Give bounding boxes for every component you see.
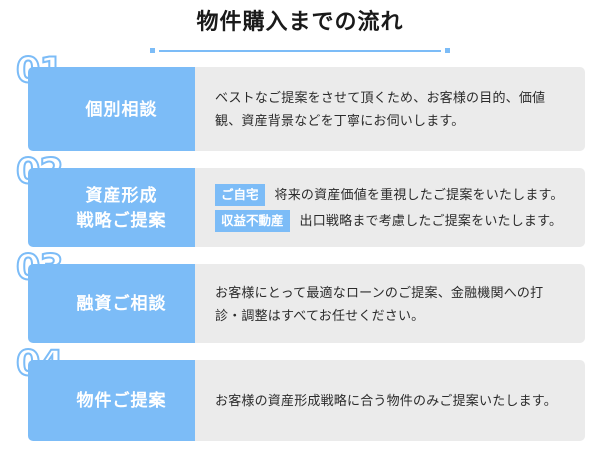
badge-investment-property: 収益不動産 <box>215 210 290 232</box>
badge-description-own-home: 将来の資産価値を重視したご提案をいたします。 <box>275 184 564 206</box>
step-row: 01 個別相談 ベストなご提案をさせて頂くため、お客様の目的、価値観、資産背景な… <box>28 67 585 151</box>
page-header: 物件購入までの流れ <box>0 0 600 55</box>
step-description-01: ベストなご提案をさせて頂くため、お客様の目的、価値観、資産背景などを丁寧にお伺い… <box>215 86 569 132</box>
step-label-panel-02: 02 資産形成 戦略ご提案 <box>28 168 195 247</box>
step-title-04: 物件ご提案 <box>77 388 167 413</box>
step-number-02: 02 <box>16 155 63 190</box>
divider-dot-left-icon <box>150 48 155 53</box>
step-number-04: 04 <box>16 347 63 382</box>
divider-line <box>159 50 441 52</box>
step-body-panel-01: ベストなご提案をさせて頂くため、お客様の目的、価値観、資産背景などを丁寧にお伺い… <box>195 67 585 151</box>
steps-list: 01 個別相談 ベストなご提案をさせて頂くため、お客様の目的、価値観、資産背景な… <box>0 67 600 441</box>
step-body-panel-03: お客様にとって最適なローンのご提案、金融機関への打診・調整はすべてお任せください… <box>195 264 585 343</box>
step-title-01: 個別相談 <box>86 97 158 122</box>
step-row: 04 物件ご提案 お客様の資産形成戦略に合う物件のみご提案いたします。 <box>28 360 585 441</box>
step-label-panel-03: 03 融資ご相談 <box>28 264 195 343</box>
step-row: 03 融資ご相談 お客様にとって最適なローンのご提案、金融機関への打診・調整はす… <box>28 264 585 343</box>
title-divider <box>150 46 450 55</box>
step-label-panel-04: 04 物件ご提案 <box>28 360 195 441</box>
badge-line: 収益不動産 出口戦略まで考慮したご提案をいたします。 <box>215 210 569 232</box>
step-title-03: 融資ご相談 <box>77 291 167 316</box>
step-label-panel-01: 01 個別相談 <box>28 67 195 151</box>
badge-own-home: ご自宅 <box>215 184 265 206</box>
step-row: 02 資産形成 戦略ご提案 ご自宅 将来の資産価値を重視したご提案をいたします。… <box>28 168 585 247</box>
step-number-01: 01 <box>16 54 63 89</box>
step-description-03: お客様にとって最適なローンのご提案、金融機関への打診・調整はすべてお任せください… <box>215 281 569 327</box>
step-body-panel-02: ご自宅 将来の資産価値を重視したご提案をいたします。 収益不動産 出口戦略まで考… <box>195 168 585 247</box>
step-body-panel-04: お客様の資産形成戦略に合う物件のみご提案いたします。 <box>195 360 585 441</box>
badge-description-investment-property: 出口戦略まで考慮したご提案をいたします。 <box>300 210 563 232</box>
step-number-03: 03 <box>16 251 63 286</box>
step-title-02: 資産形成 戦略ご提案 <box>77 183 167 233</box>
badge-line: ご自宅 将来の資産価値を重視したご提案をいたします。 <box>215 184 569 206</box>
divider-dot-right-icon <box>445 48 450 53</box>
page-title: 物件購入までの流れ <box>0 8 600 36</box>
step-description-04: お客様の資産形成戦略に合う物件のみご提案いたします。 <box>215 389 569 412</box>
